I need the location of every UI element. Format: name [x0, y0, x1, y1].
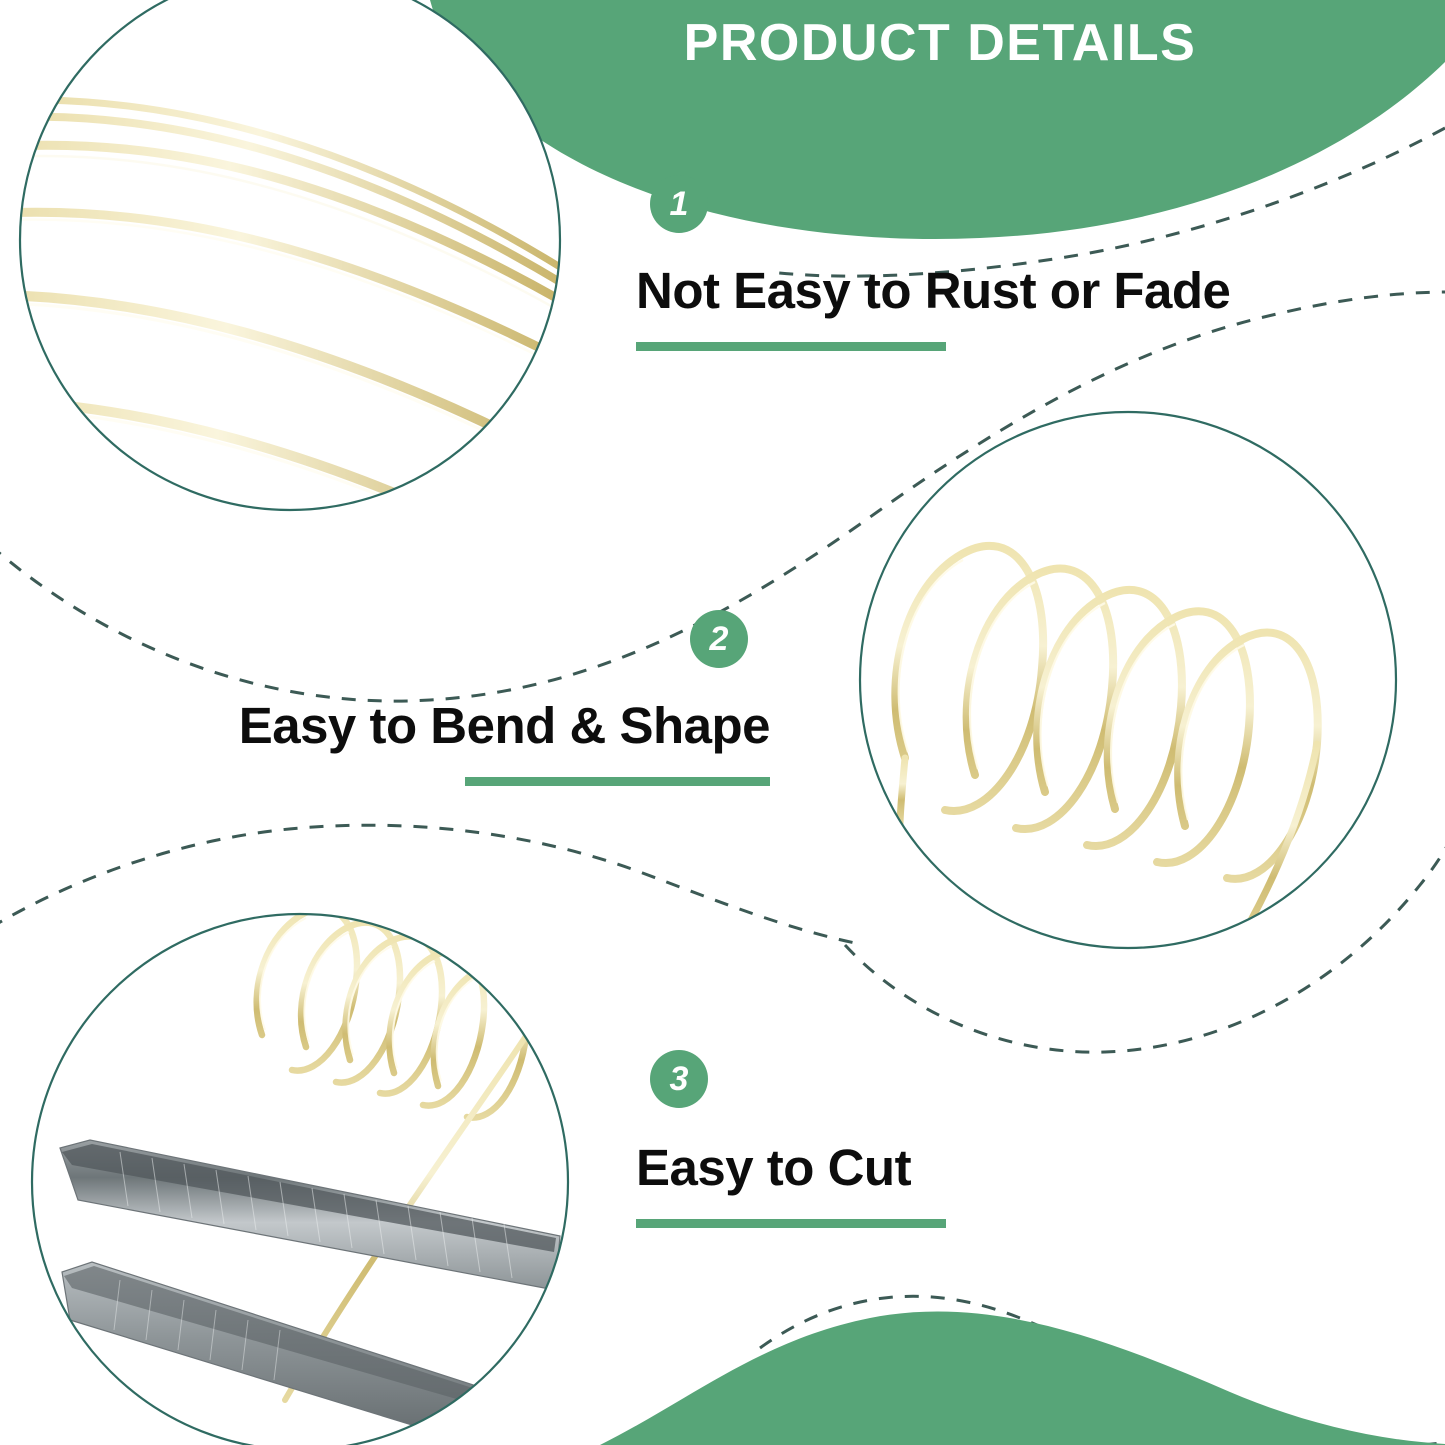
feature-number-badge-2: 2: [690, 610, 748, 668]
feature-title-2: Easy to Bend & Shape: [0, 696, 770, 755]
feature-number-badge-3: 3: [650, 1050, 708, 1108]
feature-block-2: 2 Easy to Bend & Shape: [0, 610, 770, 786]
footer-green-wave: [600, 1311, 1445, 1445]
page-title: PRODUCT DETAILS: [615, 8, 1265, 78]
feature-block-1: 1 Not Easy to Rust or Fade: [636, 175, 1230, 351]
dashed-curve-bottom-left: [0, 825, 860, 944]
feature-underline-1: [636, 342, 946, 351]
feature-title-3: Easy to Cut: [636, 1138, 946, 1197]
feature-title-1: Not Easy to Rust or Fade: [636, 261, 1230, 320]
feature-underline-3: [636, 1219, 946, 1228]
feature-block-3: 3 Easy to Cut: [636, 1050, 946, 1228]
photo-gold-wire-strands: [0, 0, 568, 568]
feature-number-badge-1: 1: [650, 175, 708, 233]
feature-underline-2: [465, 777, 770, 786]
dashed-curve-right-circle: [845, 836, 1445, 1052]
photo-scissors-cutting-wire: [32, 909, 568, 1445]
product-details-infographic: PRODUCT DETAILS 1 Not Easy to Rust or Fa…: [0, 0, 1445, 1445]
photo-gold-wire-coil: [860, 412, 1396, 960]
dashed-curve-bottom-wave: [760, 1296, 1445, 1445]
